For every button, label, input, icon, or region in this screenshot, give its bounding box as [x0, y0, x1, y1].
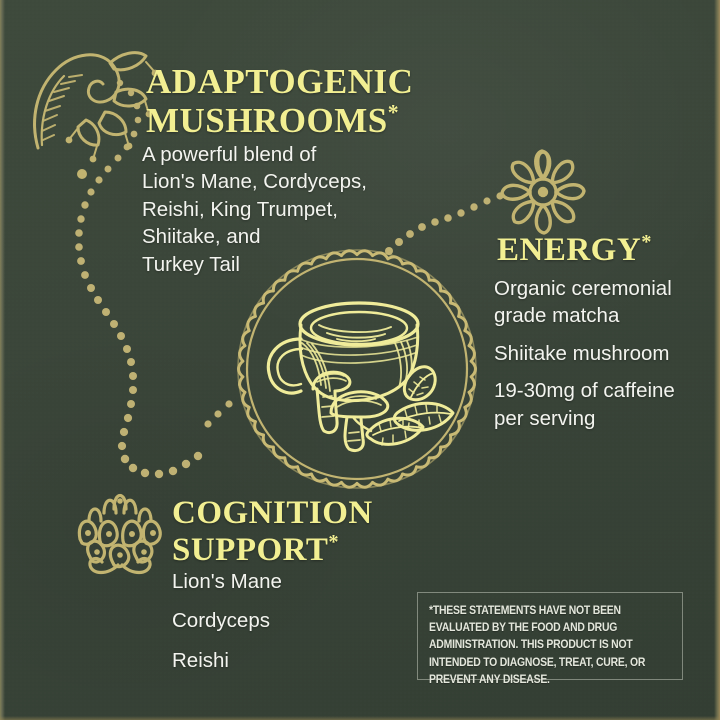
section-title-line: SUPPORT [172, 532, 328, 568]
tea-leaves-illustration [353, 367, 453, 445]
asterisk-marker: * [388, 101, 399, 125]
fda-disclaimer-text: *THESE STATEMENTS HAVE NOT BEEN EVALUATE… [429, 602, 671, 688]
section-title-text: ENERGY [497, 232, 641, 268]
medallion-scallop-ring [238, 250, 476, 488]
teacup-illustration [268, 303, 418, 401]
flower-ornament [502, 151, 584, 233]
body-line: Cordyceps [172, 607, 402, 634]
body-line: Turkey Tail [142, 251, 442, 278]
fan-peacock-ornament [79, 496, 160, 573]
body-line: A powerful blend of [142, 141, 442, 168]
body-group: Shiitake mushroom [494, 340, 709, 367]
body-line: Reishi, King Trumpet, [142, 196, 442, 223]
section-title-line: COGNITION [172, 495, 373, 531]
section-title-adaptogenic-mushrooms: ADAPTOGENIC MUSHROOMS* [146, 62, 476, 140]
section-title-energy: ENERGY* [497, 232, 707, 269]
section-title-cognition-support: COGNITION SUPPORT* [172, 495, 432, 569]
body-line: Shiitake mushroom [494, 340, 709, 367]
product-infographic-canvas: ADAPTOGENIC MUSHROOMS* A powerful blend … [0, 0, 720, 720]
fda-disclaimer-box: *THESE STATEMENTS HAVE NOT BEEN EVALUATE… [417, 592, 683, 680]
section-body-cognition-support: Lion's Mane Cordyceps Reishi [172, 568, 402, 674]
body-line: Lion's Mane [172, 568, 402, 595]
canvas-edge-right [714, 0, 720, 720]
asterisk-marker: * [328, 531, 339, 553]
body-line: Reishi [172, 647, 402, 674]
body-group: Organic ceremonial grade matcha [494, 275, 709, 330]
body-line: grade matcha [494, 302, 709, 329]
body-group: 19-30mg of caffeine per serving [494, 377, 709, 432]
section-title-text: ADAPTOGENIC MUSHROOMS [146, 62, 413, 140]
mushroom-illustration [313, 372, 388, 450]
body-line: 19-30mg of caffeine [494, 377, 709, 404]
canvas-edge-bottom [0, 716, 720, 720]
asterisk-marker: * [641, 231, 652, 253]
section-body-adaptogenic-mushrooms: A powerful blend of Lion's Mane, Cordyce… [142, 141, 442, 278]
teacup-mushroom-medallion [238, 250, 476, 488]
section-body-energy: Organic ceremonial grade matcha Shiitake… [494, 275, 709, 432]
paisley-feather-ornament [35, 53, 153, 156]
canvas-edge-left [0, 0, 5, 720]
body-line: Lion's Mane, Cordyceps, [142, 168, 442, 195]
dotted-path-lower [204, 400, 232, 427]
body-line: Organic ceremonial [494, 275, 709, 302]
body-line: Shiitake, and [142, 223, 442, 250]
body-line: per serving [494, 405, 709, 432]
